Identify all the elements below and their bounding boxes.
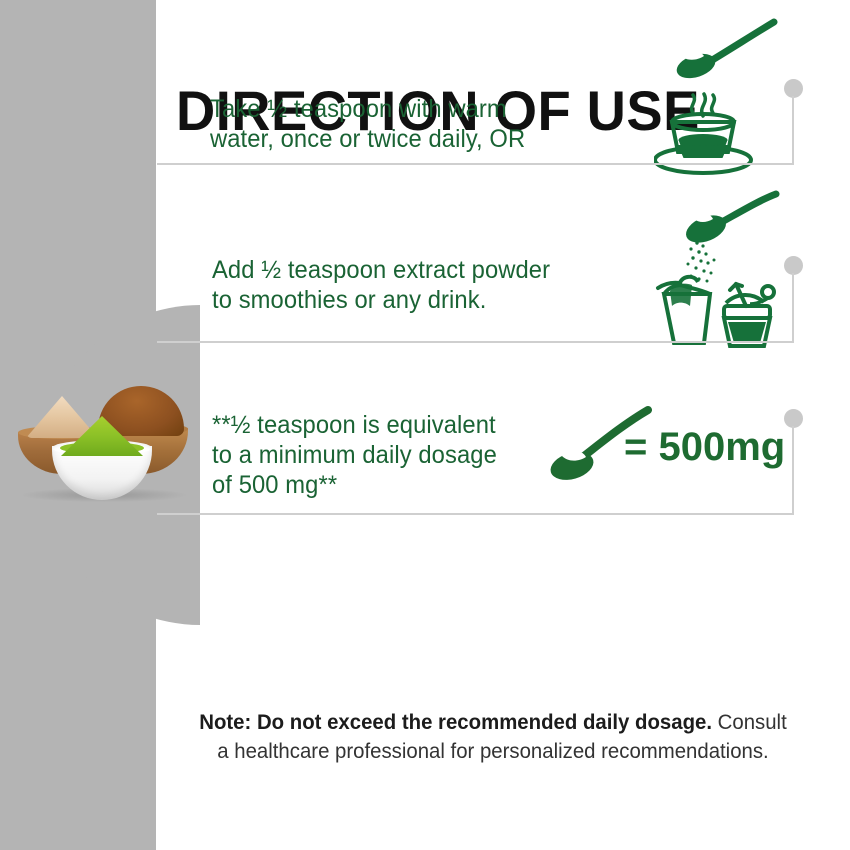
- spoon-over-warm-glass-icon: [654, 0, 804, 180]
- row-1-divider: [157, 163, 794, 165]
- step-2-line-2: to smoothies or any drink.: [212, 285, 621, 315]
- green-powder-white-bowl: [52, 416, 152, 500]
- row-3-connector-line: [792, 426, 794, 514]
- note-block: Note: Do not exceed the recommended dail…: [191, 708, 794, 766]
- row-3-divider: [157, 513, 794, 515]
- row-2-connector-line: [792, 273, 794, 341]
- step-3-line-1: **½ teaspoon is equivalent: [212, 410, 573, 440]
- step-3-line-2: to a minimum daily dosage: [212, 440, 573, 470]
- infographic-canvas: DIRECTION OF USE Take ½ teaspoon with wa…: [0, 0, 850, 850]
- step-3-text: **½ teaspoon is equivalent to a minimum …: [212, 410, 573, 500]
- note-bold-text: Note: Do not exceed the recommended dail…: [199, 711, 712, 734]
- spoon-sprinkling-into-drinks-icon: [650, 188, 805, 353]
- dosage-equation: = 500mg: [624, 425, 785, 470]
- three-bowls-of-powder-photo: [8, 368, 200, 500]
- step-1-text: Take ½ teaspoon with warm water, once or…: [210, 94, 609, 154]
- step-2-line-1: Add ½ teaspoon extract powder: [212, 255, 621, 285]
- step-1-line-2: water, once or twice daily, OR: [210, 124, 609, 154]
- row-1-connector-line: [792, 96, 794, 164]
- step-1-line-1: Take ½ teaspoon with warm: [210, 94, 609, 124]
- row-2-divider: [157, 341, 794, 343]
- green-powder-mound: [61, 416, 143, 456]
- step-2-text: Add ½ teaspoon extract powder to smoothi…: [212, 255, 621, 315]
- step-3-line-3: of 500 mg**: [212, 470, 573, 500]
